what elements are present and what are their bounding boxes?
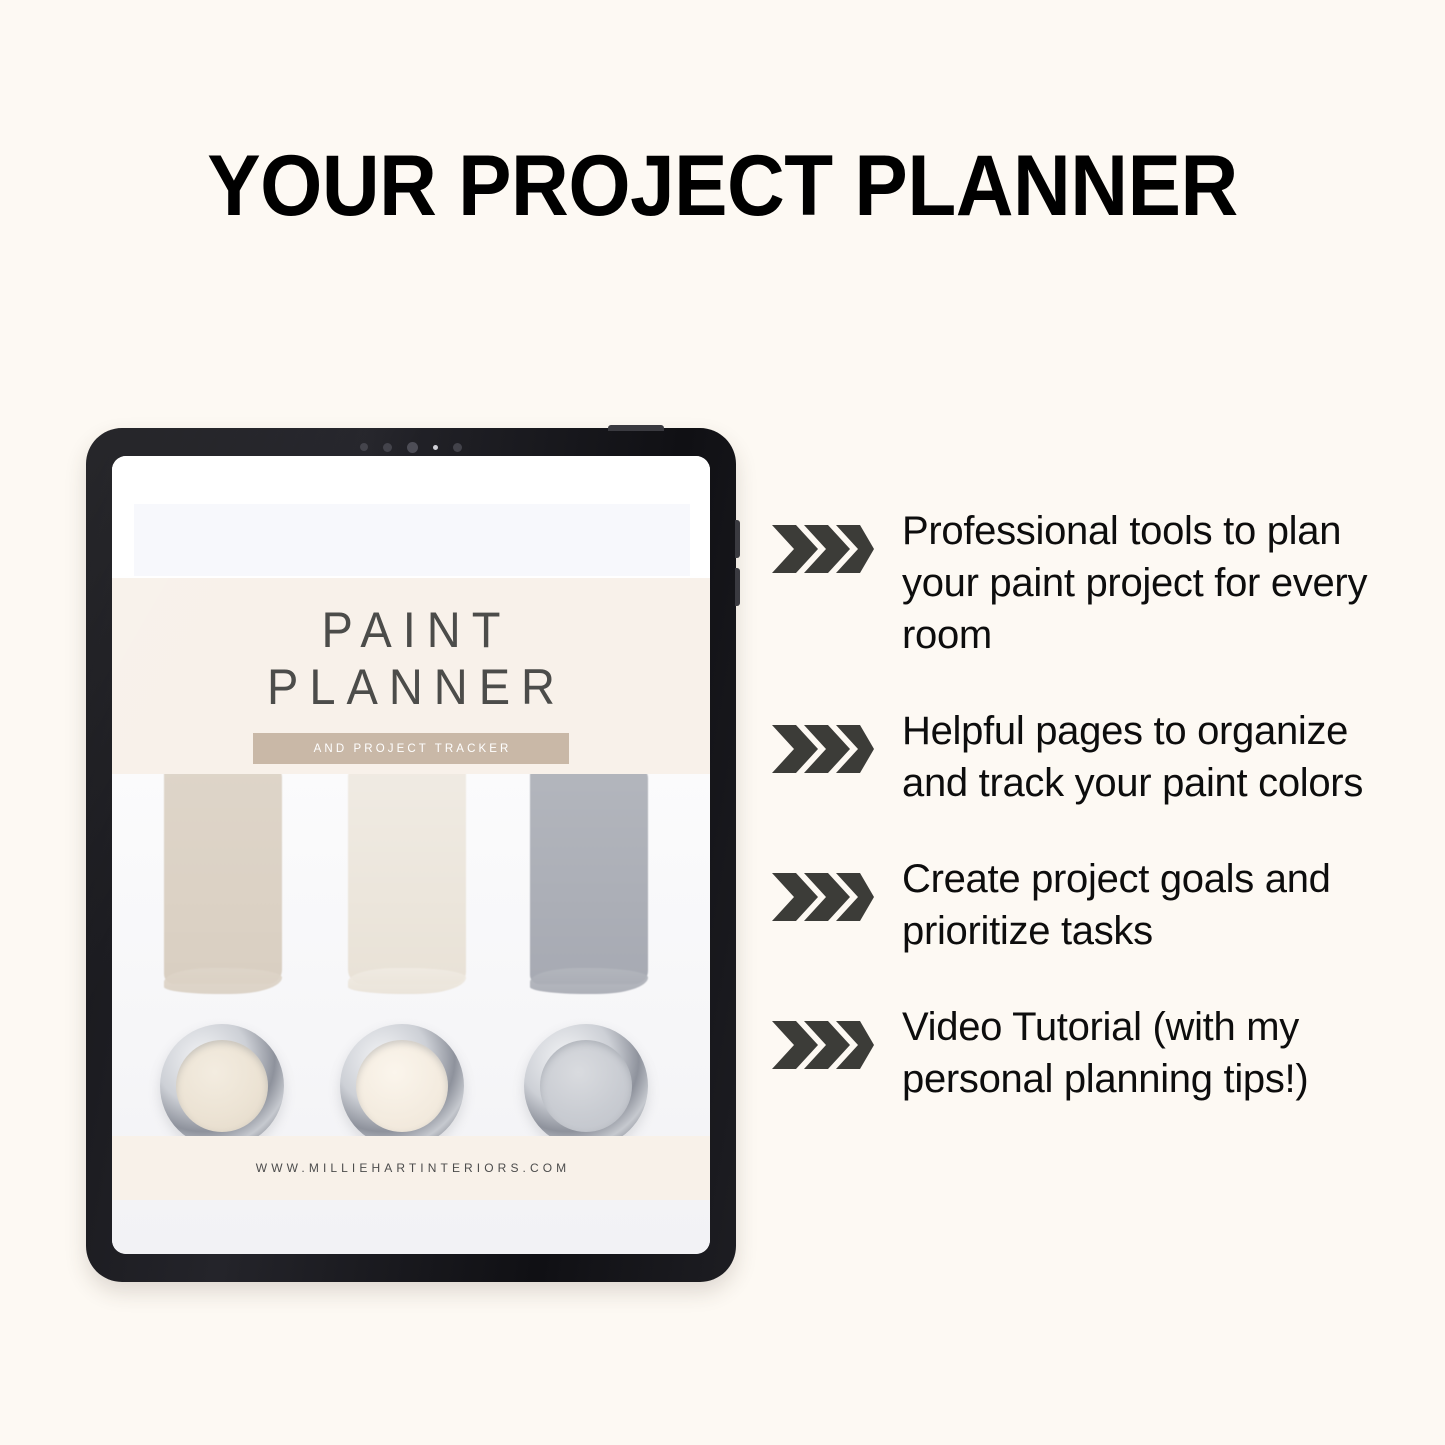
front-camera-icon [407,442,418,453]
sensor-dot-icon [453,443,462,452]
cover-title: PAINT PLANNER [112,606,710,711]
gray-swatch [530,774,648,984]
list-item-label: Video Tutorial (with my personal plannin… [902,1001,1410,1105]
sensor-dot-icon [383,443,392,452]
tablet-screen: PAINT PLANNER AND PROJECT TRACKER WWW.MI… [112,456,710,1254]
page-title: YOUR PROJECT PLANNER [51,143,1395,229]
document-page-top [112,456,710,578]
power-button[interactable] [608,425,664,431]
cover-header-block: PAINT PLANNER AND PROJECT TRACKER [112,578,710,774]
cover-photo: WWW.MILLIEHARTINTERIORS.COM [112,774,710,1254]
cream-paint-surface [356,1040,448,1132]
list-item-label: Professional tools to plan your paint pr… [902,505,1410,661]
beige-paint-surface [176,1040,268,1132]
list-item: Professional tools to plan your paint pr… [770,505,1410,661]
cover-title-line2: PLANNER [112,661,710,712]
list-item: Helpful pages to organize and track your… [770,705,1410,809]
volume-up-button[interactable] [735,520,740,558]
gray-paint-can [524,1024,648,1148]
feature-list: Professional tools to plan your paint pr… [770,505,1410,1149]
gray-paint-surface [540,1040,632,1132]
sensor-led-icon [433,445,438,450]
list-item-label: Create project goals and prioritize task… [902,853,1410,957]
tablet-sensor-array [86,440,736,454]
cover-website-band: WWW.MILLIEHARTINTERIORS.COM [112,1136,710,1200]
triple-chevron-right-icon [770,869,876,925]
triple-chevron-right-icon [770,521,876,577]
beige-paint-can [160,1024,284,1148]
volume-down-button[interactable] [735,568,740,606]
cream-paint-can [340,1024,464,1148]
cover-website-text: WWW.MILLIEHARTINTERIORS.COM [252,1161,571,1175]
page-faint-band [134,504,690,576]
beige-swatch [164,774,282,984]
cover-subtitle-band: AND PROJECT TRACKER [253,733,569,764]
cover-title-line1: PAINT [112,605,710,656]
list-item-label: Helpful pages to organize and track your… [902,705,1410,809]
tablet-device-mockup: PAINT PLANNER AND PROJECT TRACKER WWW.MI… [86,428,736,1282]
triple-chevron-right-icon [770,721,876,777]
list-item: Video Tutorial (with my personal plannin… [770,1001,1410,1105]
cover-subtitle-text: AND PROJECT TRACKER [311,743,512,755]
sensor-dot-icon [360,443,368,451]
triple-chevron-right-icon [770,1017,876,1073]
cream-swatch [348,774,466,984]
list-item: Create project goals and prioritize task… [770,853,1410,957]
